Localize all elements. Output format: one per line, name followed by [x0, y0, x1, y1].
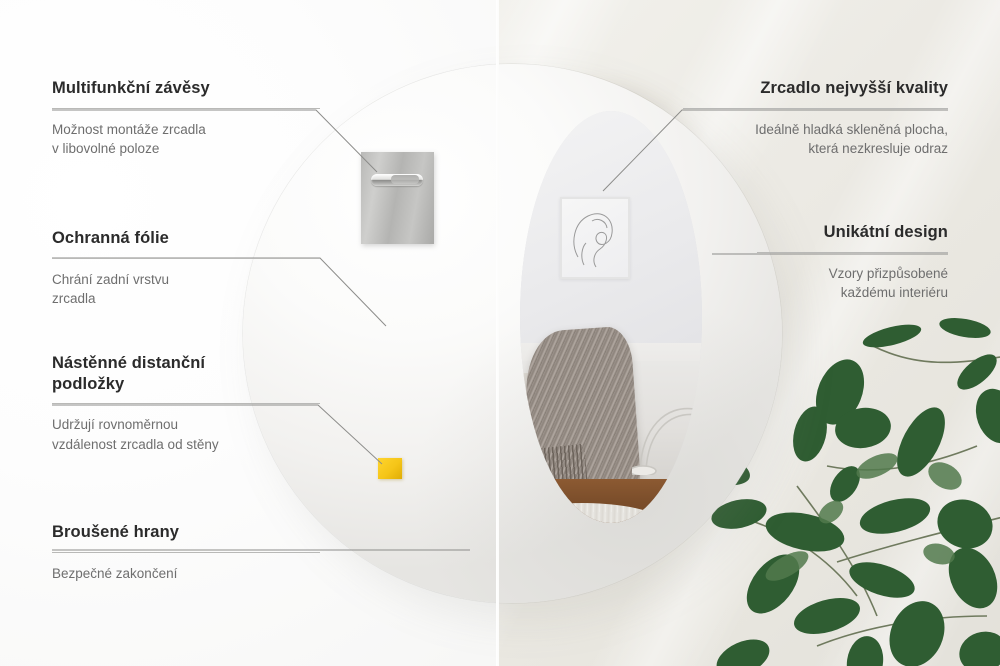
hanger-plate	[361, 152, 434, 244]
annotation-title: Zrcadlo nejvyšší kvality	[683, 78, 948, 99]
annotation-title-line2: podložky	[52, 374, 320, 395]
annotation-body-line1: Udržují rovnoměrnou	[52, 415, 320, 435]
annotation-rule	[757, 252, 948, 253]
annotation-unique-design: Unikátní design Vzory přizpůsobené každé…	[757, 222, 948, 303]
annotation-rule	[52, 258, 320, 259]
annotation-rule	[52, 108, 320, 109]
annotation-title-line1: Nástěnné distanční	[52, 353, 320, 374]
annotation-body-line2: která nezkresluje odraz	[683, 139, 948, 159]
annotation-body-line1: Chrání zadní vrstvu	[52, 270, 320, 290]
annotation-body-line2: vzdálenost zrcadla od stěny	[52, 435, 320, 455]
panel-divider	[496, 0, 499, 666]
annotation-rule	[52, 403, 320, 404]
annotation-body-line1: Ideálně hladká skleněná plocha,	[683, 120, 948, 140]
annotation-multifunctional-hangers: Multifunkční závěsy Možnost montáže zrca…	[52, 78, 320, 159]
wall-distance-pad	[378, 458, 402, 479]
annotation-title: Ochranná fólie	[52, 228, 320, 249]
annotation-wall-distance-pads: Nástěnné distanční podložky Udržují rovn…	[52, 353, 320, 454]
annotation-protective-foil: Ochranná fólie Chrání zadní vrstvu zrcad…	[52, 228, 320, 309]
hanger-slot	[371, 174, 423, 186]
annotation-title: Broušené hrany	[52, 522, 320, 543]
annotation-rule	[52, 552, 320, 553]
annotation-body-line1: Možnost montáže zrcadla	[52, 120, 320, 140]
annotation-title: Multifunkční závěsy	[52, 78, 320, 99]
annotation-highest-quality-mirror: Zrcadlo nejvyšší kvality Ideálně hladká …	[683, 78, 948, 159]
annotation-ground-edges: Broušené hrany Bezpečné zakončení	[52, 522, 320, 583]
annotation-body-line1: Bezpečné zakončení	[52, 564, 320, 584]
mirror-glass-surface	[520, 111, 702, 523]
annotation-body-line2: v libovolné poloze	[52, 139, 320, 159]
annotation-body-line1: Vzory přizpůsobené	[757, 264, 948, 284]
reflection-framed-art	[560, 197, 630, 279]
infographic-canvas: Multifunkční závěsy Možnost montáže zrca…	[0, 0, 1000, 666]
annotation-body-line2: zrcadla	[52, 289, 320, 309]
annotation-rule	[683, 108, 948, 109]
annotation-title: Unikátní design	[757, 222, 948, 243]
annotation-body-line2: každému interiéru	[757, 283, 948, 303]
reflection-arc-lamp	[632, 379, 702, 475]
